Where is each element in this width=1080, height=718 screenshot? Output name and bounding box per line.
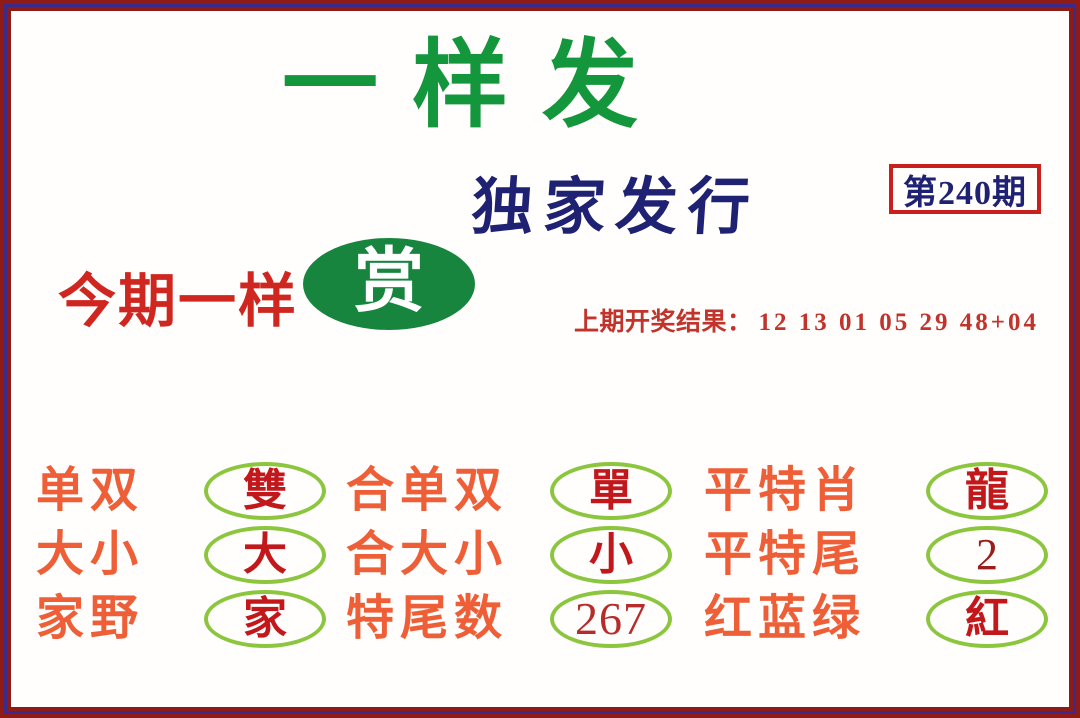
prediction-label: 合大小 xyxy=(346,531,544,579)
prediction-grid: 单双 雙 大小 大 家野 家 xyxy=(14,446,1066,662)
prediction-value-ellipse: 267 xyxy=(550,590,672,648)
subtitle: 独家发行 xyxy=(469,156,763,246)
prediction-value-ellipse: 大 xyxy=(204,526,326,584)
prediction-value-ellipse: 家 xyxy=(204,590,326,648)
prediction-value: 雙 xyxy=(243,469,287,513)
award-badge: 赏 xyxy=(303,238,475,330)
tagline: 今期一样 xyxy=(58,254,298,338)
prediction-row: 平特肖 龍 xyxy=(704,460,1056,522)
prediction-row: 特尾数 267 xyxy=(346,588,676,650)
prediction-value: 龍 xyxy=(965,469,1009,513)
lottery-poster: 一样发 独家发行 第240期 今期一样 赏 上期开奖结果：12 13 01 05… xyxy=(0,0,1080,718)
prediction-row: 单双 雙 xyxy=(36,460,336,522)
prediction-value-ellipse: 龍 xyxy=(926,462,1048,520)
prediction-value: 大 xyxy=(243,533,287,577)
poster-content: 一样发 独家发行 第240期 今期一样 赏 上期开奖结果：12 13 01 05… xyxy=(14,14,1066,704)
prediction-value: 2 xyxy=(976,533,998,577)
prediction-value: 單 xyxy=(589,469,633,513)
prediction-row: 平特尾 2 xyxy=(704,524,1056,586)
prediction-label: 单双 xyxy=(36,467,198,515)
previous-draw-result: 上期开奖结果：12 13 01 05 29 48+04 xyxy=(574,302,1039,338)
prediction-column-3: 平特肖 龍 平特尾 2 红蓝绿 xyxy=(704,446,1056,662)
prediction-label: 特尾数 xyxy=(346,595,544,643)
prediction-value: 紅 xyxy=(965,597,1009,641)
prediction-label: 平特肖 xyxy=(704,467,920,515)
prediction-value-ellipse: 紅 xyxy=(926,590,1048,648)
prediction-row: 合单双 單 xyxy=(346,460,676,522)
prediction-value: 家 xyxy=(243,597,287,641)
prediction-row: 大小 大 xyxy=(36,524,336,586)
prediction-value-ellipse: 單 xyxy=(550,462,672,520)
prediction-row: 家野 家 xyxy=(36,588,336,650)
period-badge: 第240期 xyxy=(889,164,1041,214)
prediction-value-ellipse: 雙 xyxy=(204,462,326,520)
previous-draw-label: 上期开奖结果： xyxy=(574,309,753,336)
prediction-column-2: 合单双 單 合大小 小 特尾数 xyxy=(346,446,676,662)
previous-draw-numbers: 12 13 01 05 29 48+04 xyxy=(759,309,1040,336)
page-title: 一样发 xyxy=(282,36,862,137)
prediction-value-ellipse: 小 xyxy=(550,526,672,584)
prediction-label: 家野 xyxy=(36,595,198,643)
prediction-label: 红蓝绿 xyxy=(704,595,920,643)
prediction-label: 合单双 xyxy=(346,467,544,515)
prediction-value-ellipse: 2 xyxy=(926,526,1048,584)
prediction-value: 267 xyxy=(575,596,647,642)
prediction-row: 红蓝绿 紅 xyxy=(704,588,1056,650)
prediction-row: 合大小 小 xyxy=(346,524,676,586)
prediction-value: 小 xyxy=(589,533,633,577)
prediction-column-1: 单双 雙 大小 大 家野 家 xyxy=(36,446,336,662)
prediction-label: 大小 xyxy=(36,531,198,579)
prediction-label: 平特尾 xyxy=(704,531,920,579)
award-badge-glyph: 赏 xyxy=(354,248,424,318)
